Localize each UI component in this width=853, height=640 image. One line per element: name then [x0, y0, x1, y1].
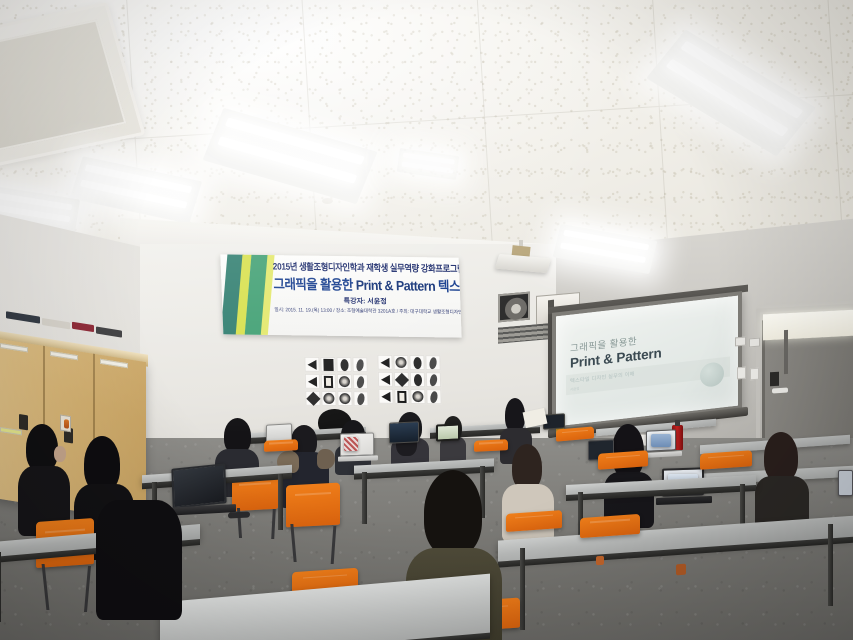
- circle-shape-icon: [339, 376, 350, 387]
- wall-exhaust-fan-icon: [498, 292, 530, 323]
- door-lock-icon[interactable]: [770, 372, 779, 386]
- door-closer-rod: [784, 330, 788, 374]
- door-transom-window: [763, 310, 853, 341]
- banner-main-kr2: 텍스타일 디자인 실무의 이해: [438, 279, 462, 296]
- banner-main-line: 그래픽을 활용한 Print & Pattern 텍스타일 디자인 실무의 이해: [273, 273, 456, 295]
- classroom-chair[interactable]: [580, 514, 640, 538]
- circle-shape-icon: [339, 393, 350, 404]
- laptop-screen: [838, 470, 853, 496]
- classroom-chair[interactable]: [264, 439, 298, 452]
- display-panel-row: [378, 389, 441, 405]
- diamond-shape-icon: [306, 391, 320, 405]
- door-handle-icon[interactable]: [772, 388, 788, 394]
- banner-stripe-graphic: [220, 254, 279, 335]
- triangle-shape-icon: [307, 359, 316, 369]
- eyeglasses-icon: [228, 511, 250, 518]
- oval-shape-icon: [429, 373, 438, 386]
- laptop-screen: [171, 463, 226, 509]
- circle-shape-icon: [323, 393, 334, 404]
- oval-shape-icon: [413, 357, 421, 369]
- cabinet-sticker-icon: [60, 414, 71, 432]
- event-banner: 2015년 생활조형디자인학과 재학생 실무역량 강화프로그램 그래픽을 활용한…: [220, 254, 461, 337]
- oval-shape-icon: [340, 359, 348, 371]
- oval-shape-icon: [413, 374, 421, 386]
- slide-circle-decor: [700, 361, 724, 388]
- triangle-shape-icon: [381, 374, 390, 384]
- smoke-detector-icon: [322, 198, 333, 204]
- display-panel-row: [304, 357, 367, 373]
- banner-main-en: Print & Pattern: [356, 278, 436, 294]
- table-marking: [676, 564, 686, 576]
- triangle-shape-icon: [308, 376, 317, 386]
- oval-shape-icon: [429, 390, 438, 403]
- banner-info-line: 일시: 2015. 11. 19.(목) 13:00 / 장소: 조형예술대학관…: [274, 307, 456, 316]
- display-panel-row: [377, 355, 440, 371]
- laptop-screen: [389, 421, 419, 444]
- laptop-screen-pattern-app: [344, 437, 358, 451]
- circle-shape-icon: [395, 357, 406, 368]
- square-shape-icon: [323, 358, 333, 370]
- table-marking: [596, 556, 604, 566]
- circle-shape-icon: [412, 391, 423, 402]
- oval-shape-icon: [429, 356, 438, 369]
- box-shape-icon: [397, 390, 406, 402]
- display-panel-group-b: [377, 355, 441, 407]
- laptop-screen: [436, 423, 460, 441]
- display-panel-row: [305, 374, 368, 390]
- triangle-shape-icon: [381, 391, 390, 401]
- classroom-photo: 2015년 생활조형디자인학과 재학생 실무역량 강화프로그램 그래픽을 활용한…: [0, 0, 853, 640]
- classroom-chair[interactable]: [474, 439, 508, 452]
- diamond-shape-icon: [394, 372, 408, 386]
- oval-shape-icon: [356, 392, 365, 405]
- box-shape-icon: [324, 375, 333, 387]
- light-switch-icon[interactable]: [750, 368, 759, 381]
- oval-shape-icon: [356, 358, 365, 371]
- display-panel-row: [378, 372, 441, 388]
- banner-main-kr1: 그래픽을 활용한: [273, 276, 353, 292]
- display-panel-group-a: [304, 357, 368, 409]
- oval-shape-icon: [356, 375, 365, 388]
- laptop-screen-design-app: [651, 434, 671, 447]
- banner-speaker: 특강자: 서윤정: [274, 295, 457, 308]
- light-switch-icon[interactable]: [737, 367, 746, 380]
- wall-outlet-icon[interactable]: [749, 338, 760, 348]
- display-panel-row: [305, 391, 368, 407]
- wall-outlet-icon[interactable]: [735, 337, 746, 347]
- triangle-shape-icon: [380, 357, 389, 367]
